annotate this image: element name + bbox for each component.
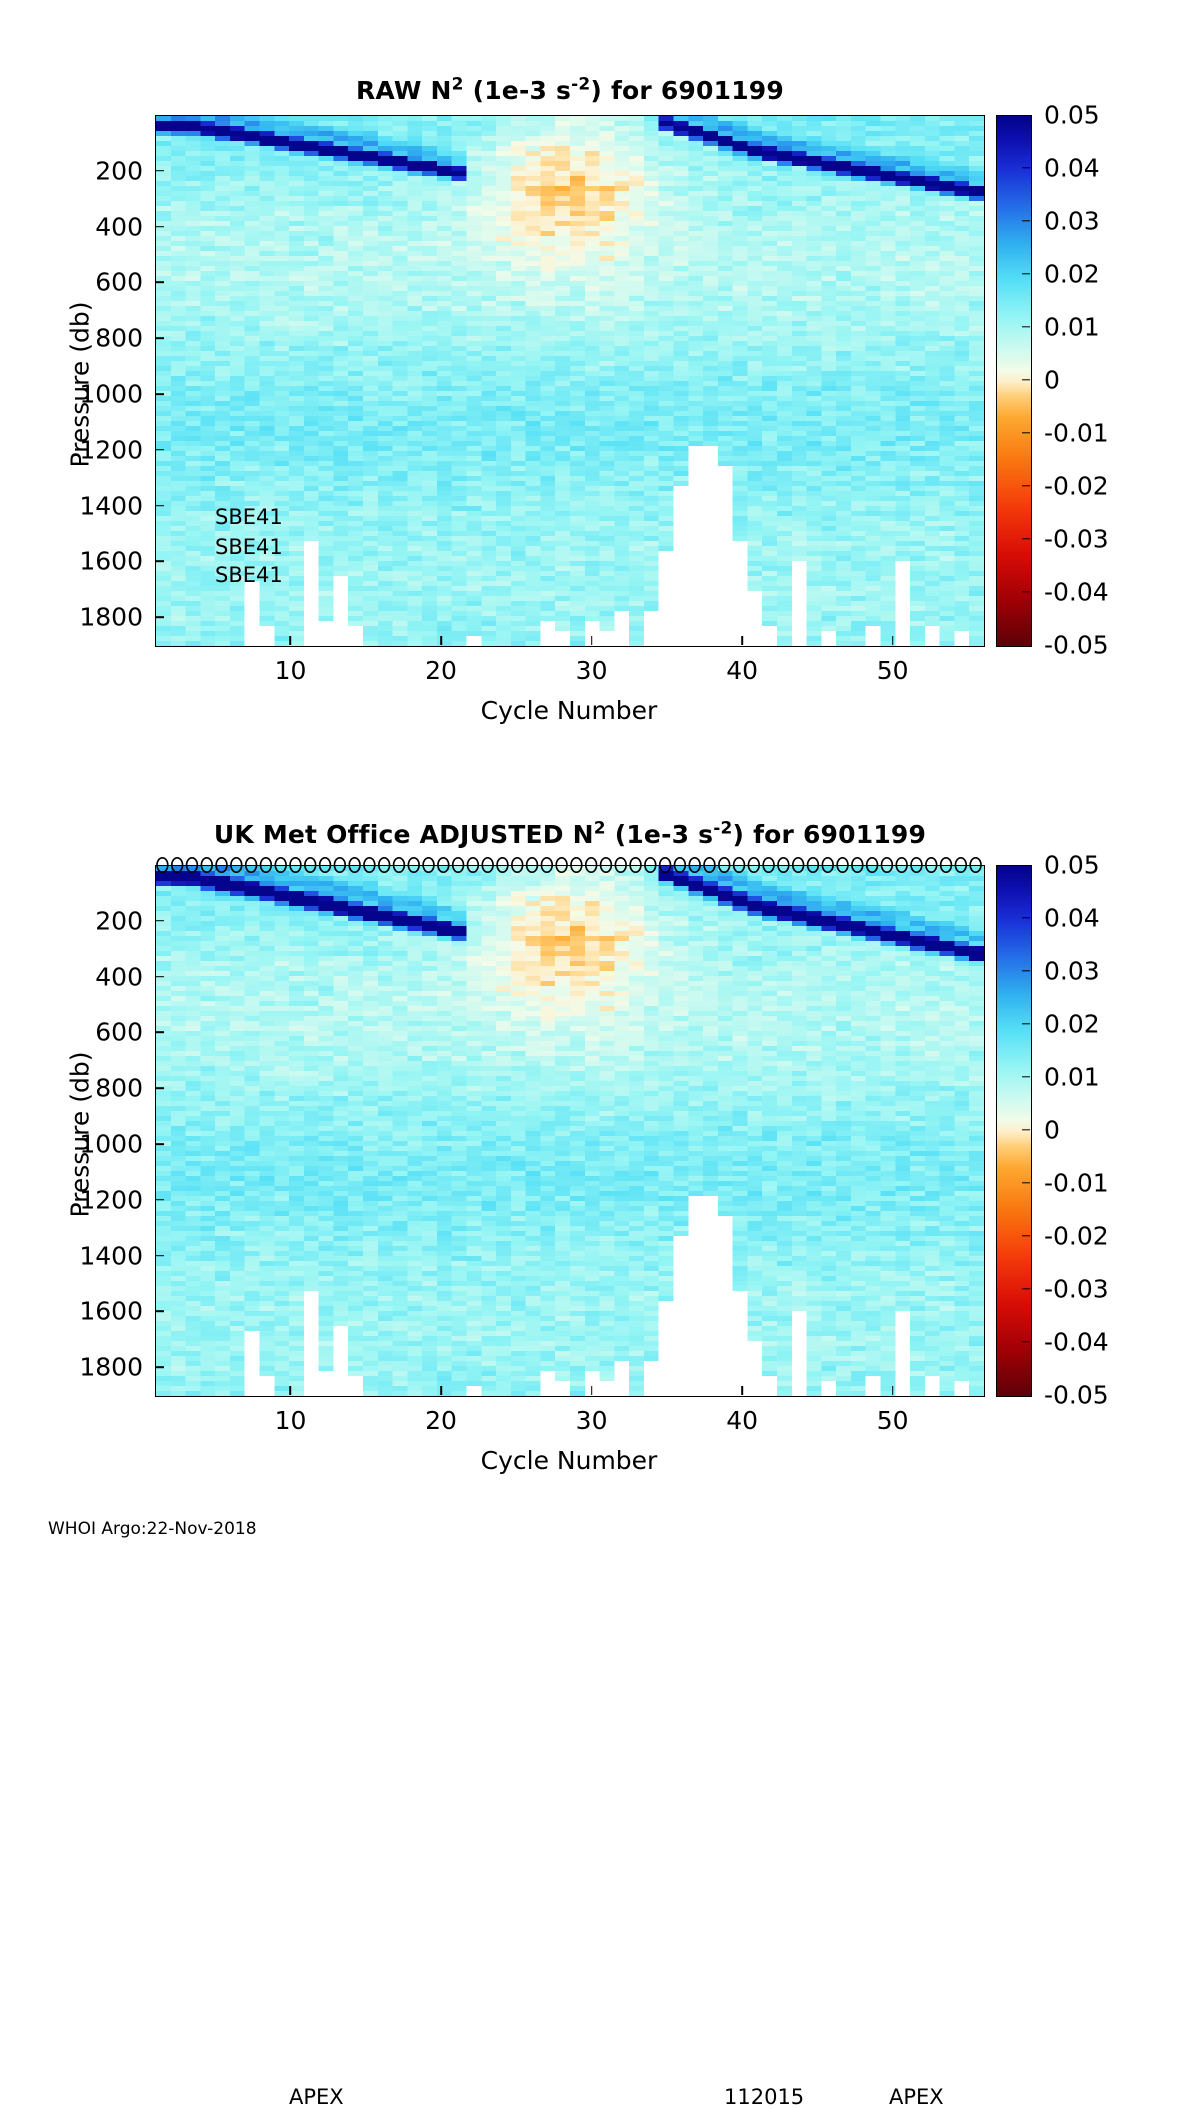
colorbar-tick-mark xyxy=(1022,1288,1030,1289)
x-tick-mark xyxy=(892,1386,894,1395)
x-tick-mark xyxy=(440,1386,442,1395)
colorbar-tick-label: 0.03 xyxy=(1044,957,1100,986)
colorbar-tick-label: 0 xyxy=(1044,1116,1060,1145)
y-tick-mark xyxy=(155,1255,164,1257)
panel-adjusted-title: UK Met Office ADJUSTED N2 (1e-3 s-2) for… xyxy=(0,820,1140,849)
y-tick-label: 1800 xyxy=(0,603,143,632)
x-tick-label: 20 xyxy=(425,1406,457,1435)
y-tick-mark xyxy=(155,561,164,563)
x-tick-label: 50 xyxy=(877,1406,909,1435)
x-tick-label: 20 xyxy=(425,656,457,685)
y-tick-mark xyxy=(155,616,164,618)
colorbar-tick-label: 0.01 xyxy=(1044,1063,1100,1092)
panel-raw: RAW N2 (1e-3 s-2) for 6901199 2004006008… xyxy=(0,0,1200,760)
annotation-apex-1: APEX xyxy=(289,2085,344,2109)
argo-n2-figure: RAW N2 (1e-3 s-2) for 6901199 2004006008… xyxy=(0,0,1200,1575)
panel-raw-title: RAW N2 (1e-3 s-2) for 6901199 xyxy=(0,76,1140,105)
colorbar-tick-label: 0.02 xyxy=(1044,1010,1100,1039)
colorbar-tick-mark xyxy=(1022,1182,1030,1183)
x-tick-label: 10 xyxy=(275,656,307,685)
colorbar-tick-mark xyxy=(1022,432,1030,433)
x-tick-mark xyxy=(290,1386,292,1395)
x-tick-mark xyxy=(741,1386,743,1395)
adjusted-colorbar xyxy=(996,865,1032,1397)
colorbar-tick-label: 0.03 xyxy=(1044,207,1100,236)
adjusted-heatmap-image xyxy=(156,866,984,1396)
x-tick-mark xyxy=(290,636,292,645)
y-tick-label: 200 xyxy=(0,906,143,935)
colorbar-tick-label: -0.02 xyxy=(1044,1222,1109,1251)
colorbar-tick-mark xyxy=(1022,1235,1030,1236)
y-tick-label: 1800 xyxy=(0,1353,143,1382)
colorbar-tick-label: -0.05 xyxy=(1044,1381,1109,1410)
x-tick-mark xyxy=(591,1386,593,1395)
colorbar-tick-label: -0.01 xyxy=(1044,1169,1109,1198)
x-tick-label: 40 xyxy=(726,656,758,685)
colorbar-tick-mark xyxy=(1022,970,1030,971)
colorbar-tick-mark xyxy=(1022,1129,1030,1130)
y-tick-mark xyxy=(155,226,164,228)
colorbar-tick-mark xyxy=(1022,1023,1030,1024)
colorbar-tick-mark xyxy=(1022,167,1030,168)
colorbar-tick-label: 0.05 xyxy=(1044,851,1100,880)
x-tick-mark xyxy=(440,636,442,645)
adjusted-y-axis-label: Pressure (db) xyxy=(66,1025,95,1245)
y-tick-mark xyxy=(155,170,164,172)
colorbar-tick-label: 0.05 xyxy=(1044,101,1100,130)
colorbar-tick-label: -0.03 xyxy=(1044,525,1109,554)
x-tick-label: 30 xyxy=(576,1406,608,1435)
x-tick-mark xyxy=(591,636,593,645)
y-tick-mark xyxy=(155,505,164,507)
colorbar-tick-label: -0.01 xyxy=(1044,419,1109,448)
colorbar-tick-label: 0 xyxy=(1044,366,1060,395)
y-tick-mark xyxy=(155,1199,164,1201)
y-tick-mark xyxy=(155,1087,164,1089)
raw-x-axis-label: Cycle Number xyxy=(155,696,983,725)
colorbar-tick-mark xyxy=(1022,326,1030,327)
y-tick-label: 200 xyxy=(0,156,143,185)
annotation-sbe41-1: SBE41 xyxy=(215,505,283,529)
colorbar-tick-label: 0.04 xyxy=(1044,904,1100,933)
colorbar-tick-mark xyxy=(1022,485,1030,486)
x-tick-mark xyxy=(741,636,743,645)
colorbar-tick-label: 0.04 xyxy=(1044,154,1100,183)
colorbar-tick-label: 0.01 xyxy=(1044,313,1100,342)
figure-footer: WHOI Argo:22-Nov-2018 xyxy=(48,1519,257,1539)
y-tick-label: 1400 xyxy=(0,1241,143,1270)
raw-colorbar xyxy=(996,115,1032,647)
y-tick-label: 1400 xyxy=(0,491,143,520)
x-tick-label: 10 xyxy=(275,1406,307,1435)
y-tick-label: 1600 xyxy=(0,547,143,576)
annotation-apex-2: APEX xyxy=(889,2085,944,2109)
y-tick-mark xyxy=(155,976,164,978)
panel-adjusted: UK Met Office ADJUSTED N2 (1e-3 s-2) for… xyxy=(0,760,1200,1520)
colorbar-tick-label: 0.02 xyxy=(1044,260,1100,289)
y-tick-mark xyxy=(155,282,164,284)
y-tick-mark xyxy=(155,449,164,451)
colorbar-tick-label: -0.05 xyxy=(1044,631,1109,660)
colorbar-tick-mark xyxy=(1022,591,1030,592)
y-tick-label: 1600 xyxy=(0,1297,143,1326)
annotation-sbe41-3: SBE41 xyxy=(215,563,283,587)
y-tick-mark xyxy=(155,1143,164,1145)
colorbar-tick-mark xyxy=(1022,273,1030,274)
colorbar-tick-label: -0.04 xyxy=(1044,578,1109,607)
colorbar-tick-mark xyxy=(1022,1341,1030,1342)
colorbar-tick-label: -0.02 xyxy=(1044,472,1109,501)
y-tick-mark xyxy=(155,1366,164,1368)
adjusted-x-axis-label: Cycle Number xyxy=(155,1446,983,1475)
annotation-112015: 112015 xyxy=(724,2085,804,2109)
colorbar-tick-mark xyxy=(1022,379,1030,380)
y-tick-mark xyxy=(155,1311,164,1313)
colorbar-tick-label: -0.04 xyxy=(1044,1328,1109,1357)
colorbar-tick-mark xyxy=(1022,220,1030,221)
raw-y-axis-label: Pressure (db) xyxy=(66,275,95,495)
x-tick-label: 30 xyxy=(576,656,608,685)
colorbar-tick-mark xyxy=(1022,538,1030,539)
y-tick-mark xyxy=(155,920,164,922)
y-tick-mark xyxy=(155,337,164,339)
y-tick-label: 400 xyxy=(0,212,143,241)
annotation-sbe41-2: SBE41 xyxy=(215,535,283,559)
y-tick-mark xyxy=(155,393,164,395)
colorbar-tick-label: -0.03 xyxy=(1044,1275,1109,1304)
colorbar-tick-mark xyxy=(1022,917,1030,918)
colorbar-tick-mark xyxy=(1022,1076,1030,1077)
x-tick-label: 50 xyxy=(877,656,909,685)
x-tick-label: 40 xyxy=(726,1406,758,1435)
x-tick-mark xyxy=(892,636,894,645)
y-tick-label: 400 xyxy=(0,962,143,991)
y-tick-mark xyxy=(155,1032,164,1034)
adjusted-heatmap-axes[interactable] xyxy=(155,865,985,1397)
